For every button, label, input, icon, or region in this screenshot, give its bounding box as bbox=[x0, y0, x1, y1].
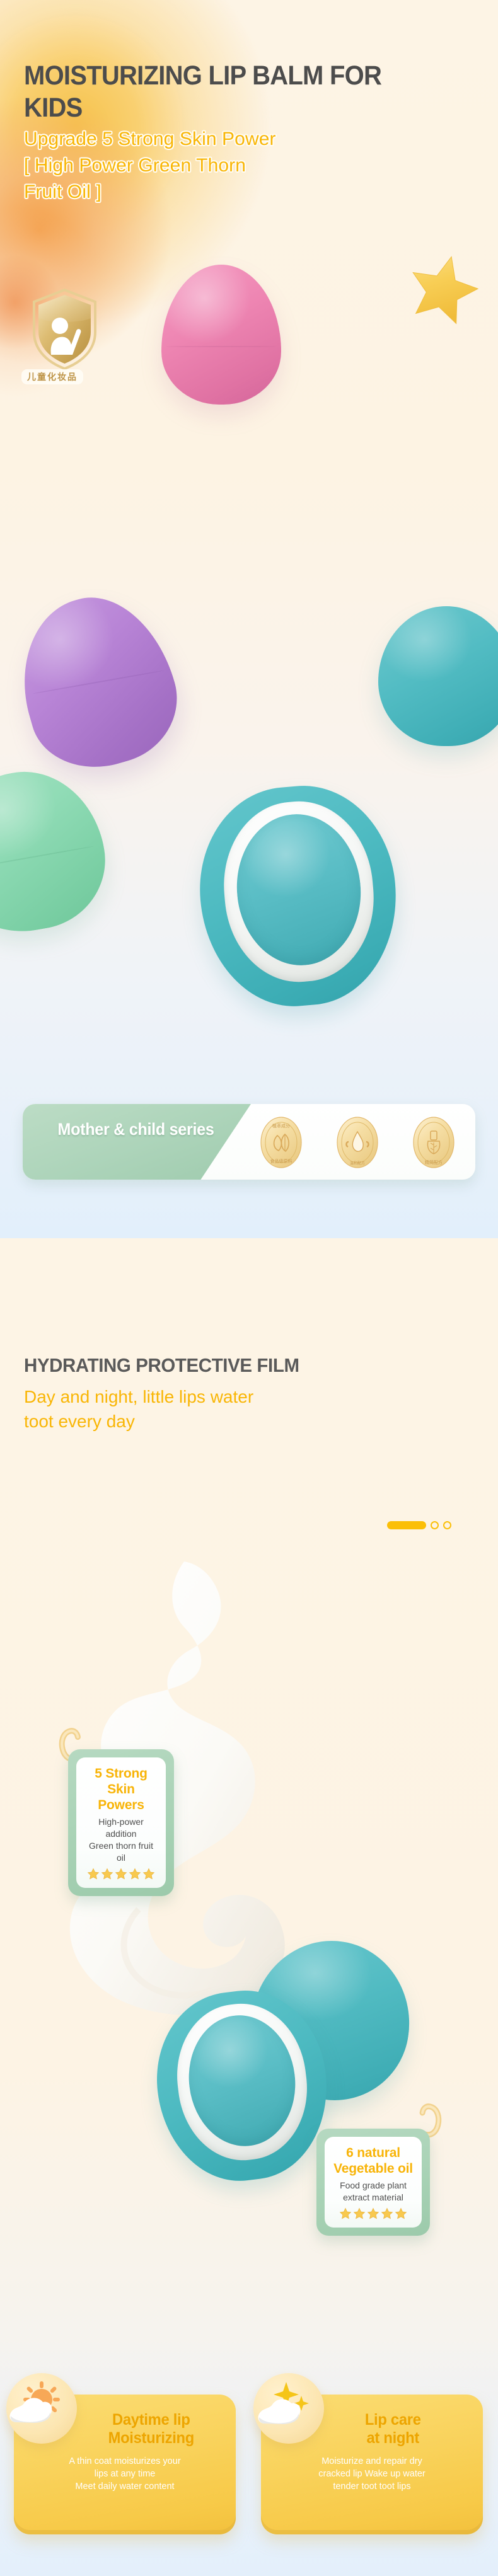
tag-description: High-power addition Green thorn fruit oi… bbox=[84, 1816, 158, 1864]
tag-description-line-2: extract material bbox=[332, 2192, 414, 2204]
tag-inner: 5 Strong Skin Powers High-power addition… bbox=[76, 1757, 166, 1888]
mother-child-banner: Mother & child series bbox=[23, 1104, 475, 1180]
banner-label-line-1: Mother & child bbox=[57, 1120, 165, 1139]
star-icon bbox=[129, 1868, 141, 1880]
section-subtitle: Day and night, little lips water toot ev… bbox=[24, 1384, 427, 1434]
card-description: Moisturize and repair dry cracked lip Wa… bbox=[267, 2455, 477, 2493]
simple-formula-seal: 精简配方 bbox=[406, 1114, 461, 1171]
card-heading: Lip care at night bbox=[267, 2411, 477, 2447]
card-description-line-2: cracked lip Wake up water bbox=[267, 2468, 477, 2480]
tag-six-natural-vegetable-oil: 6 natural Vegetable oil Food grade plant… bbox=[316, 2129, 430, 2236]
card-heading-line-1: Daytime lip bbox=[72, 2411, 230, 2429]
hydrating-film-section: HYDRATING PROTECTIVE FILM Day and night,… bbox=[0, 1238, 498, 2576]
page-title: MOISTURIZING LIP BALM FOR KIDS bbox=[24, 60, 434, 124]
banner-seal-group: 植萃成分 食品级原料 温和配方 bbox=[253, 1113, 461, 1171]
tag-five-strong-skin-powers: 5 Strong Skin Powers High-power addition… bbox=[68, 1749, 174, 1896]
hero-subtitle: Upgrade 5 Strong Skin Power [ High Power… bbox=[24, 126, 427, 205]
rating-stars bbox=[84, 1868, 158, 1880]
star-icon bbox=[142, 1868, 155, 1880]
star-icon bbox=[367, 2207, 379, 2220]
section-subtitle-line-1: Day and night, little lips water bbox=[24, 1384, 427, 1409]
card-description-line-3: tender toot toot lips bbox=[267, 2480, 477, 2493]
tag-heading-line-1: 6 natural bbox=[332, 2145, 414, 2161]
tag-heading: 5 Strong Skin Powers bbox=[84, 1766, 158, 1813]
card-lip-care-at-night: Lip care at night Moisturize and repair … bbox=[261, 2395, 483, 2534]
hero-subtitle-line-1: Upgrade 5 Strong Skin Power bbox=[24, 126, 427, 152]
card-heading-line-1: Lip care bbox=[308, 2411, 477, 2429]
product-detail-page: MOISTURIZING LIP BALM FOR KIDS Upgrade 5… bbox=[0, 0, 498, 2576]
tag-description-line-1: High-power addition bbox=[84, 1816, 158, 1840]
lip-balm-purple bbox=[3, 580, 192, 784]
svg-text:食品级原料: 食品级原料 bbox=[270, 1158, 292, 1164]
star-icon bbox=[101, 1868, 113, 1880]
lip-balm-open-teal bbox=[200, 786, 396, 1006]
pagination-dot-2[interactable] bbox=[431, 1521, 439, 1529]
lip-balm-open-teal-secondary bbox=[158, 1991, 327, 2180]
card-heading-line-2: Moisturizing bbox=[72, 2429, 230, 2447]
star-icon bbox=[339, 2207, 352, 2220]
card-heading: Daytime lip Moisturizing bbox=[20, 2411, 230, 2447]
badge-label-cn: 儿童化妆品 bbox=[21, 369, 83, 384]
svg-text:精简配方: 精简配方 bbox=[425, 1159, 443, 1165]
banner-green-panel bbox=[23, 1104, 251, 1180]
card-heading-line-2: at night bbox=[308, 2429, 477, 2447]
tag-body: 5 Strong Skin Powers High-power addition… bbox=[68, 1749, 174, 1896]
pagination-dot-3[interactable] bbox=[443, 1521, 451, 1529]
hero-section: MOISTURIZING LIP BALM FOR KIDS Upgrade 5… bbox=[0, 0, 498, 1238]
star-icon bbox=[87, 1868, 100, 1880]
plant-extract-seal: 植萃成分 食品级原料 bbox=[253, 1114, 309, 1171]
lip-balm-mint bbox=[0, 759, 116, 943]
rating-stars bbox=[332, 2207, 414, 2220]
card-description: A thin coat moisturizes your lips at any… bbox=[20, 2455, 229, 2493]
carousel-pagination[interactable] bbox=[387, 1521, 451, 1529]
tag-heading: 6 natural Vegetable oil bbox=[332, 2145, 414, 2176]
banner-label-line-2: series bbox=[170, 1120, 214, 1139]
pagination-active-indicator[interactable] bbox=[387, 1521, 426, 1529]
tag-description-line-2: Green thorn fruit oil bbox=[84, 1840, 158, 1864]
card-description-line-1: A thin coat moisturizes your bbox=[20, 2455, 229, 2468]
tag-description: Food grade plant extract material bbox=[332, 2180, 414, 2204]
tag-inner: 6 natural Vegetable oil Food grade plant… bbox=[325, 2137, 422, 2228]
star-icon bbox=[353, 2207, 366, 2220]
tag-heading-line-1: 5 Strong bbox=[84, 1766, 158, 1781]
hero-subtitle-line-3: Fruit Oil ] bbox=[24, 179, 427, 205]
star-icon bbox=[115, 1868, 127, 1880]
card-daytime-lip-moisturizing: Daytime lip Moisturizing A thin coat moi… bbox=[14, 2395, 236, 2534]
tag-heading-line-2: Vegetable oil bbox=[332, 2161, 414, 2176]
section-title: HYDRATING PROTECTIVE FILM bbox=[24, 1354, 455, 1377]
tag-heading-line-2: Skin Powers bbox=[84, 1781, 158, 1813]
shield-child-icon bbox=[28, 287, 101, 372]
moisture-drop-seal: 温和配方 bbox=[330, 1114, 385, 1171]
card-description-line-2: lips at any time bbox=[20, 2468, 229, 2480]
svg-text:植萃成分: 植萃成分 bbox=[272, 1123, 290, 1129]
svg-text:温和配方: 温和配方 bbox=[350, 1161, 365, 1166]
star-icon bbox=[395, 2207, 407, 2220]
card-description-line-3: Meet daily water content bbox=[20, 2480, 229, 2493]
banner-label: Mother & child series bbox=[48, 1119, 224, 1139]
hero-subtitle-line-2: [ High Power Green Thorn bbox=[24, 152, 427, 179]
card-description-line-1: Moisturize and repair dry bbox=[267, 2455, 477, 2468]
lip-balm-teal bbox=[378, 606, 498, 746]
page-title-line-1: MOISTURIZING LIP BALM bbox=[24, 60, 323, 91]
star-decor-icon bbox=[401, 244, 487, 330]
section-subtitle-line-2: toot every day bbox=[24, 1409, 427, 1434]
tag-description-line-1: Food grade plant bbox=[332, 2180, 414, 2192]
tag-body: 6 natural Vegetable oil Food grade plant… bbox=[316, 2129, 430, 2236]
star-icon bbox=[381, 2207, 393, 2220]
